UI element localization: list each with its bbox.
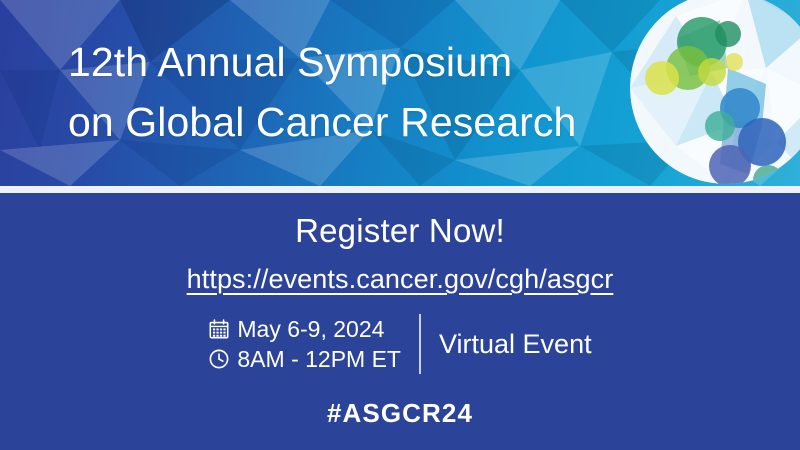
event-hashtag: #ASGCR24 xyxy=(0,398,800,428)
title-line-2: on Global Cancer Research xyxy=(68,92,576,152)
calendar-icon xyxy=(208,318,230,340)
page-title: 12th Annual Symposium on Global Cancer R… xyxy=(68,32,576,152)
when-group: May 6-9, 2024 8AM - 12PM ET xyxy=(208,315,401,373)
title-line-1: 12th Annual Symposium xyxy=(68,32,576,92)
registration-link[interactable]: https://events.cancer.gov/cgh/asgcr xyxy=(187,262,614,296)
clock-icon xyxy=(208,348,230,370)
event-date-text: May 6-9, 2024 xyxy=(237,315,384,343)
event-promo-poster: 12th Annual Symposium on Global Cancer R… xyxy=(0,0,800,450)
globe-icon xyxy=(616,0,800,186)
globe-graphic xyxy=(616,0,800,186)
header-divider xyxy=(0,186,800,193)
event-details-row: May 6-9, 2024 8AM - 12PM ET Virtual Even… xyxy=(0,314,800,374)
event-time-text: 8AM - 12PM ET xyxy=(237,345,401,373)
details-divider xyxy=(419,314,421,374)
event-format-label: Virtual Event xyxy=(439,328,592,360)
event-date-row: May 6-9, 2024 xyxy=(208,315,384,343)
details-panel: Register Now! https://events.cancer.gov/… xyxy=(0,193,800,450)
register-heading: Register Now! xyxy=(0,211,800,251)
header-banner: 12th Annual Symposium on Global Cancer R… xyxy=(0,0,800,186)
event-time-row: 8AM - 12PM ET xyxy=(208,345,401,373)
